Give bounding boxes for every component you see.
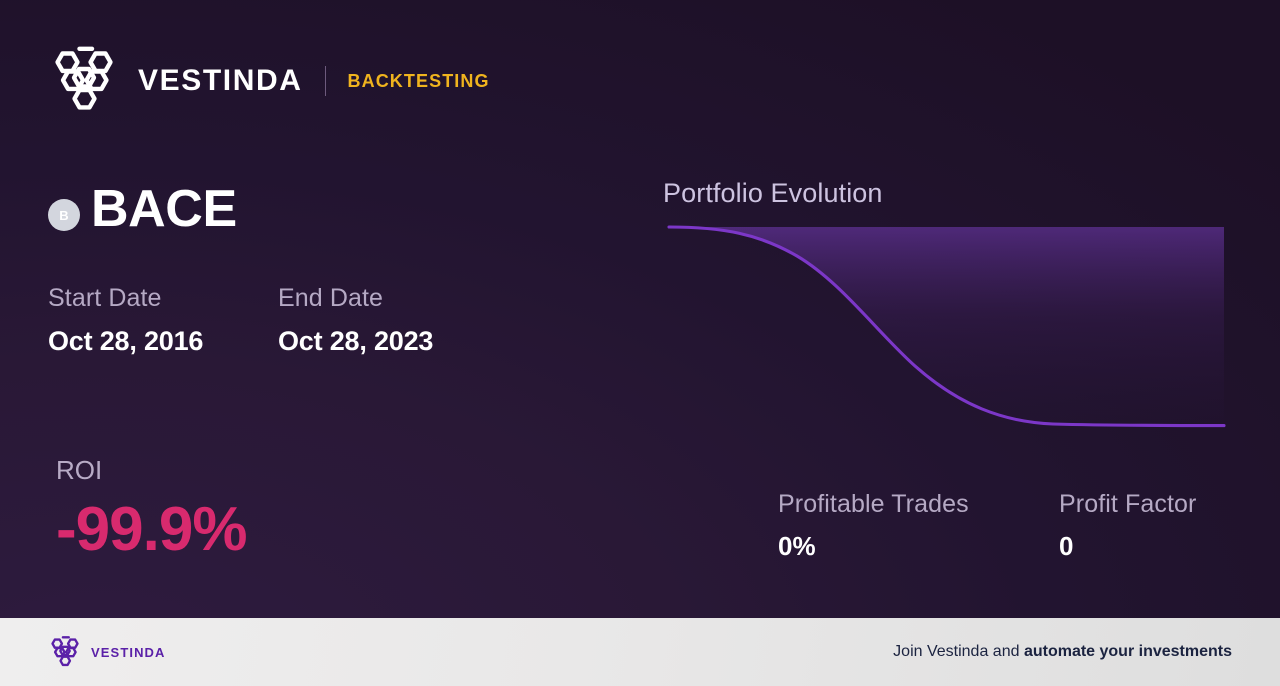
profit-factor-block: Profit Factor 0 xyxy=(1059,490,1280,562)
asset-title-row: B BACE xyxy=(48,172,237,234)
start-date-value: Oct 28, 2016 xyxy=(48,325,278,359)
performance-stats: Profitable Trades 0% Profit Factor 0 xyxy=(778,490,1280,562)
vestinda-hexagon-logo-icon xyxy=(48,636,82,669)
roi-block: ROI -99.9% xyxy=(56,456,246,562)
profitable-trades-block: Profitable Trades 0% xyxy=(778,490,1059,562)
vestinda-hexagon-logo-icon xyxy=(48,46,120,116)
end-date-value: Oct 28, 2023 xyxy=(278,325,508,359)
start-date-label: Start Date xyxy=(48,284,278,314)
brand-divider xyxy=(325,66,326,96)
asset-badge: B xyxy=(48,199,80,231)
profitable-trades-label: Profitable Trades xyxy=(778,490,1059,519)
footer-brand-name: VESTINDA xyxy=(91,645,166,660)
profit-factor-label: Profit Factor xyxy=(1059,490,1280,519)
chart-area-path xyxy=(669,227,1224,426)
backtesting-result-card: VESTINDA BACKTESTING B BACE Start Date O… xyxy=(0,0,1280,686)
chart-svg xyxy=(663,220,1229,432)
footer-cta-bold: automate your investments xyxy=(1024,643,1232,660)
footer-bar: VESTINDA Join Vestinda and automate your… xyxy=(0,618,1280,686)
brand-tag: BACKTESTING xyxy=(348,72,490,90)
footer-cta: Join Vestinda and automate your investme… xyxy=(893,643,1232,661)
footer-logo: VESTINDA xyxy=(48,636,166,669)
footer-cta-prefix: Join Vestinda and xyxy=(893,643,1024,660)
brand-name: VESTINDA xyxy=(138,66,303,96)
chart-title: Portfolio Evolution xyxy=(663,178,883,209)
start-date-block: Start Date Oct 28, 2016 xyxy=(48,284,278,358)
roi-value: -99.9% xyxy=(56,497,246,562)
page-title: BACE xyxy=(91,186,237,234)
end-date-label: End Date xyxy=(278,284,508,314)
profitable-trades-value: 0% xyxy=(778,531,1059,562)
portfolio-evolution-chart xyxy=(663,220,1229,432)
end-date-block: End Date Oct 28, 2023 xyxy=(278,284,508,358)
roi-label: ROI xyxy=(56,456,246,485)
brand-header: VESTINDA BACKTESTING xyxy=(48,46,490,116)
date-range: Start Date Oct 28, 2016 End Date Oct 28,… xyxy=(48,284,508,358)
profit-factor-value: 0 xyxy=(1059,531,1280,562)
